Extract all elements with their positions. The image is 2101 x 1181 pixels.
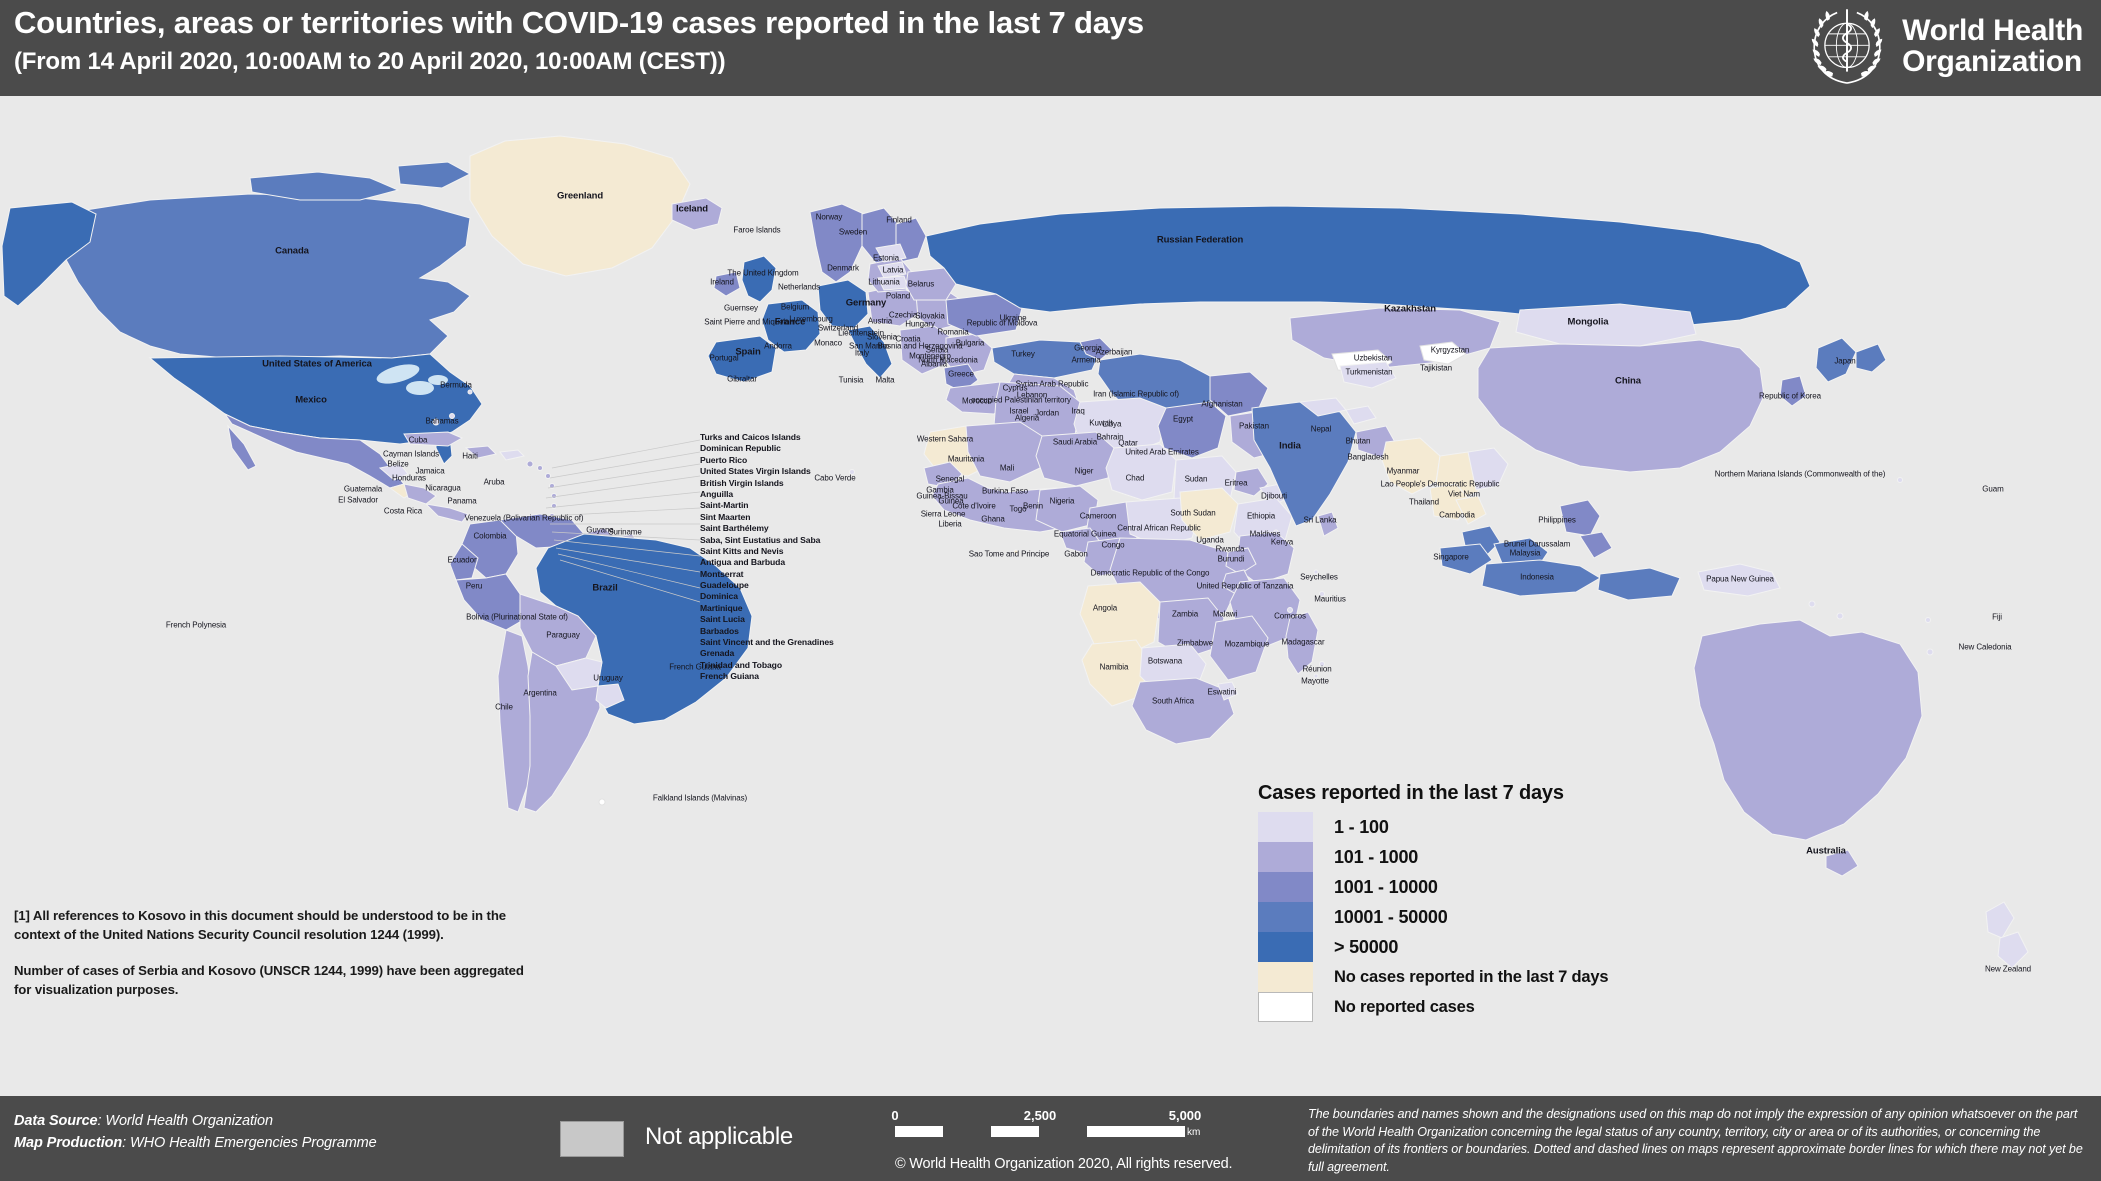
map-production-value: WHO Health Emergencies Programme (130, 1135, 377, 1151)
map-country-label: Romania (937, 328, 968, 337)
map-country-label: Democratic Republic of the Congo (1091, 569, 1210, 578)
who-logo: World Health Organization (1806, 6, 2083, 88)
map-country-label: Eswatini (1208, 688, 1237, 697)
map-country-label: Ireland (710, 278, 734, 287)
data-source-line: Data Source: World Health Organization (14, 1110, 377, 1132)
map-country-label: Paraguay (546, 631, 579, 640)
map-country-label: Nigeria (1050, 497, 1075, 506)
caribbean-callout-item: Montserrat (700, 569, 834, 580)
map-country-label: Myanmar (1387, 467, 1420, 476)
map-country-label: Russian Federation (1157, 235, 1243, 246)
caribbean-callout-item: Antigua and Barbuda (700, 557, 834, 568)
map-country-label: Falkland Islands (Malvinas) (653, 794, 747, 803)
map-country-label: New Zealand (1985, 965, 2031, 974)
map-country-label: Faroe Islands (733, 226, 780, 235)
map-country-label: Saudi Arabia (1053, 438, 1097, 447)
map-country-label: Gabon (1064, 550, 1088, 559)
map-country-label: The United Kingdom (727, 269, 798, 278)
map-country-label: Malawi (1213, 610, 1237, 619)
map-country-label: Northern Mariana Islands (Commonwealth o… (1715, 470, 1886, 479)
map-country-label: Côte d'Ivoire (952, 502, 995, 511)
who-covid-map-page: Countries, areas or territories with COV… (0, 0, 2101, 1181)
who-emblem-icon (1806, 6, 1888, 88)
legend-rows: 1 - 100101 - 10001001 - 1000010001 - 500… (1258, 812, 1858, 1022)
map-country-label: Zimbabwe (1177, 639, 1213, 648)
map-country-label: Portugal (710, 354, 739, 363)
map-country-label: Libya (1103, 420, 1122, 429)
map-country-label: India (1279, 441, 1301, 452)
map-country-label: Indonesia (1520, 573, 1554, 582)
caribbean-callout-list: Turks and Caicos IslandsDominican Republ… (700, 432, 834, 683)
legend-row[interactable]: 1001 - 10000 (1258, 872, 1858, 902)
map-country-label: Sudan (1185, 475, 1208, 484)
map-country-label: Panama (447, 497, 476, 506)
scale-tick: 2,500 (1024, 1108, 1057, 1123)
caribbean-callout-item: Puerto Rico (700, 455, 834, 466)
map-country-label: Ecuador (447, 556, 476, 565)
page-title: Countries, areas or territories with COV… (14, 5, 1144, 41)
map-country-label: Seychelles (1300, 573, 1338, 582)
map-country-label: Venezuela (Bolivarian Republic of) (465, 514, 584, 523)
caribbean-callout-item: Saint-Martin (700, 500, 834, 511)
map-production-key: Map Production (14, 1135, 122, 1151)
map-country-label: Canada (275, 246, 309, 257)
map-country-label: El Salvador (338, 496, 378, 505)
map-country-label: Argentina (523, 689, 556, 698)
map-country-label: Austria (868, 317, 892, 326)
caribbean-callout-item: Saint Lucia (700, 614, 834, 625)
map-country-label: Nepal (1311, 425, 1331, 434)
map-country-label: Chad (1126, 474, 1145, 483)
legend-row[interactable]: 101 - 1000 (1258, 842, 1858, 872)
map-country-label: Eritrea (1225, 479, 1248, 488)
caribbean-callout-item: Dominica (700, 591, 834, 602)
legend-color-swatch (1258, 872, 1313, 902)
data-source-key: Data Source (14, 1113, 98, 1129)
map-country-label: Singapore (1433, 553, 1469, 562)
map-country-label: Turkmenistan (1346, 368, 1393, 377)
map-country-label: Nicaragua (425, 484, 461, 493)
footer-credits: Data Source: World Health Organization M… (14, 1110, 377, 1154)
map-country-label: Réunion (1302, 665, 1331, 674)
legend-label: No cases reported in the last 7 days (1334, 968, 1608, 987)
map-country-label: Greenland (557, 191, 603, 202)
map-country-label: Philippines (1538, 516, 1576, 525)
map-country-label: Syrian Arab Republic (1016, 380, 1089, 389)
caribbean-callout-item: Martinique (700, 603, 834, 614)
caribbean-callout-item: Grenada (700, 648, 834, 659)
map-country-label: Zambia (1172, 610, 1198, 619)
caribbean-callout-item: British Virgin Islands (700, 478, 834, 489)
legend-label: 101 - 1000 (1334, 847, 1418, 868)
map-country-label: New Caledonia (1959, 643, 2012, 652)
data-source-value: World Health Organization (105, 1113, 273, 1129)
map-country-label: Djibouti (1261, 492, 1287, 501)
map-country-label: Bhutan (1346, 437, 1371, 446)
map-country-label: Kenya (1271, 538, 1293, 547)
map-country-label: Malaysia (1510, 549, 1541, 558)
map-country-label: Brazil (592, 583, 617, 594)
map-country-label: Japan (1834, 357, 1855, 366)
map-country-label: Western Sahara (917, 435, 973, 444)
caribbean-callout-item: Dominican Republic (700, 443, 834, 454)
map-country-label: Poland (886, 292, 910, 301)
world-map[interactable]: .c1{fill:#dedcef;stroke:#f2f2f2;stroke-w… (0, 96, 2101, 1096)
map-country-label: Afghanistan (1201, 400, 1242, 409)
map-country-label: Madagascar (1281, 638, 1324, 647)
map-country-label: Hungary (905, 320, 935, 329)
caribbean-callout-item: Saba, Sint Eustatius and Saba (700, 535, 834, 546)
who-wordmark: World Health Organization (1902, 16, 2083, 77)
map-country-label: Turkey (1011, 350, 1035, 359)
caribbean-callout-item: Turks and Caicos Islands (700, 432, 834, 443)
map-country-label: Republic of Korea (1759, 392, 1821, 401)
map-country-label: Malta (875, 376, 894, 385)
map-legend: Cases reported in the last 7 days 1 - 10… (1258, 782, 1858, 1022)
caribbean-callout-item: Sint Maarten (700, 512, 834, 523)
map-country-label: Costa Rica (384, 507, 422, 516)
legend-title: Cases reported in the last 7 days (1258, 782, 1858, 805)
map-country-label: Peru (466, 582, 483, 591)
map-country-label: Togo (1010, 505, 1027, 514)
map-country-label: Burkina Faso (982, 487, 1028, 496)
map-country-label: Sweden (839, 228, 867, 237)
map-country-label: Brunei Darussalam (1504, 540, 1570, 549)
map-country-label: Cambodia (1439, 511, 1475, 520)
map-country-label: Iran (Islamic Republic of) (1093, 390, 1179, 399)
map-country-label: Latvia (883, 266, 904, 275)
who-name-line2: Organization (1902, 47, 2083, 78)
map-country-label: Haiti (462, 452, 478, 461)
map-country-label: Cayman Islands (383, 450, 439, 459)
map-country-label: Italy (855, 349, 869, 358)
copyright-notice: © World Health Organization 2020, All ri… (895, 1156, 1225, 1172)
map-notes: [1] All references to Kosovo in this doc… (14, 906, 534, 1016)
map-country-label: Comoros (1274, 612, 1306, 621)
map-country-label: Pakistan (1239, 422, 1269, 431)
scale-tick: 0 (891, 1108, 898, 1123)
map-country-label: Estonia (873, 254, 899, 263)
scale-unit-label: km (1187, 1127, 1200, 1138)
map-production-line: Map Production: WHO Health Emergencies P… (14, 1132, 377, 1154)
map-country-label: Niger (1075, 467, 1094, 476)
map-country-label: Sao Tome and Principe (969, 550, 1049, 559)
map-country-label: Mauritius (1314, 595, 1346, 604)
map-country-label: Azerbaijan (1096, 348, 1133, 357)
map-country-label: Denmark (827, 264, 859, 273)
map-country-label: Fiji (1992, 613, 2002, 622)
map-country-label: Uganda (1196, 536, 1223, 545)
map-country-label: Algeria (1015, 414, 1039, 423)
legend-label: > 50000 (1334, 937, 1398, 958)
legend-row[interactable]: No reported cases (1258, 992, 1858, 1022)
map-country-label: Suriname (608, 528, 641, 537)
map-country-label: Saint Pierre and Miquelon (704, 318, 794, 327)
map-country-label: Gibraltar (727, 375, 757, 384)
map-country-label: China (1615, 376, 1641, 387)
caribbean-callout-item: Guadeloupe (700, 580, 834, 591)
map-country-label: Papua New Guinea (1706, 575, 1774, 584)
map-country-label: Cameroon (1080, 512, 1117, 521)
legend-color-swatch (1258, 842, 1313, 872)
not-applicable-swatch (560, 1121, 624, 1157)
page-subtitle: (From 14 April 2020, 10:00AM to 20 April… (14, 48, 725, 76)
map-country-label: Kyrgyzstan (1431, 346, 1470, 355)
map-country-label: United Arab Emirates (1125, 448, 1199, 457)
map-country-label: Guatemala (344, 485, 382, 494)
scale-bar-graphic (895, 1126, 1185, 1137)
map-country-label: Bangladesh (1347, 453, 1388, 462)
legend-row[interactable]: No cases reported in the last 7 days (1258, 962, 1858, 992)
map-country-label: Mozambique (1225, 640, 1270, 649)
legend-row[interactable]: 10001 - 50000 (1258, 902, 1858, 932)
map-country-label: Mexico (295, 395, 327, 406)
map-country-label: Guernsey (724, 304, 758, 313)
map-country-label: Uzbekistan (1354, 354, 1393, 363)
map-country-label: Bosnia and Herzegovina (878, 342, 963, 351)
map-country-label: Kazakhstan (1384, 304, 1436, 315)
map-country-label: Finland (886, 216, 912, 225)
legend-color-swatch (1258, 902, 1313, 932)
map-country-label: Slovenia (867, 333, 897, 342)
map-country-label: Morocco (962, 397, 992, 406)
map-country-label: Egypt (1173, 415, 1193, 424)
map-country-label: Chile (495, 703, 513, 712)
map-country-label: Belize (387, 460, 408, 469)
caribbean-callout-item: Barbados (700, 626, 834, 637)
map-country-label: Bulgaria (956, 339, 985, 348)
map-country-label: Andorra (764, 342, 792, 351)
map-country-label: Tajikistan (1420, 364, 1452, 373)
map-country-label: Burundi (1218, 555, 1245, 564)
who-name-line1: World Health (1902, 16, 2083, 47)
map-country-label: Qatar (1118, 439, 1138, 448)
boundaries-disclaimer: The boundaries and names shown and the d… (1308, 1106, 2088, 1176)
map-country-label: Lao People's Democratic Republic (1381, 480, 1500, 489)
map-country-label: Guam (1982, 485, 2003, 494)
map-country-label: Mali (1000, 464, 1014, 473)
map-country-label: Republic of Moldova (967, 319, 1038, 328)
note-kosovo: [1] All references to Kosovo in this doc… (14, 906, 534, 944)
map-country-label: Bolivia (Plurinational State of) (466, 613, 568, 622)
caribbean-callout-item: Saint Vincent and the Grenadines (700, 637, 834, 648)
map-country-label: Monaco (814, 339, 842, 348)
map-country-label: Spain (735, 347, 760, 358)
legend-label: No reported cases (1334, 998, 1475, 1017)
map-country-label: South Sudan (1170, 509, 1215, 518)
map-country-label: Lithuania (868, 278, 900, 287)
map-country-label: Aruba (484, 478, 505, 487)
map-country-label: South Africa (1152, 697, 1194, 706)
legend-row[interactable]: > 50000 (1258, 932, 1858, 962)
legend-color-swatch (1258, 962, 1313, 992)
map-country-label: Bermuda (440, 381, 472, 390)
map-country-label: Bahamas (425, 417, 458, 426)
legend-color-swatch (1258, 812, 1313, 842)
map-country-label: Mayotte (1301, 677, 1329, 686)
map-country-label: Netherlands (778, 283, 820, 292)
map-country-label: Namibia (1100, 663, 1129, 672)
map-country-label: Germany (846, 298, 887, 309)
map-country-label: Cuba (409, 436, 428, 445)
map-country-label: Belgium (781, 303, 809, 312)
map-country-label: Rwanda (1216, 545, 1245, 554)
legend-label: 1001 - 10000 (1334, 877, 1438, 898)
map-country-label: Uruguay (593, 674, 623, 683)
map-country-label: United Republic of Tanzania (1197, 582, 1294, 591)
map-country-label: Mauritania (948, 455, 984, 464)
scale-tick: 5,000 (1169, 1108, 1202, 1123)
page-header: Countries, areas or territories with COV… (0, 0, 2101, 96)
map-country-label: Armenia (1071, 356, 1100, 365)
map-country-label: United States of America (262, 359, 372, 370)
map-country-label: Liberia (938, 520, 961, 529)
map-country-label: French Polynesia (166, 621, 226, 630)
map-country-label: Sierra Leone (921, 510, 966, 519)
scale-tick-labels: 02,5005,000 (895, 1108, 1205, 1126)
map-country-label: Honduras (392, 474, 426, 483)
caribbean-callout-item: United States Virgin Islands (700, 466, 834, 477)
legend-color-swatch (1258, 992, 1313, 1022)
map-country-label: Central African Republic (1117, 524, 1200, 533)
map-country-label: Senegal (936, 475, 965, 484)
map-country-label: Ghana (981, 515, 1005, 524)
map-country-label: North Macedonia (918, 356, 977, 365)
map-country-label: Belarus (908, 280, 934, 289)
caribbean-callout-item: French Guiana (700, 671, 834, 682)
map-country-label: Thailand (1409, 498, 1439, 507)
caribbean-callout-item: Anguilla (700, 489, 834, 500)
map-scale-bar: 02,5005,000 km © World Health Organizati… (895, 1108, 1205, 1137)
map-country-label: Ethiopia (1247, 512, 1275, 521)
caribbean-callout-item: Saint Barthélemy (700, 523, 834, 534)
map-country-label: Angola (1093, 604, 1117, 613)
map-country-label: Czechia (889, 311, 917, 320)
map-country-label: Sri Lanka (1304, 516, 1337, 525)
map-country-label: Congo (1101, 541, 1124, 550)
legend-color-swatch (1258, 932, 1313, 962)
map-country-label: Iraq (1071, 407, 1084, 416)
caribbean-callout-item: Saint Kitts and Nevis (700, 546, 834, 557)
map-country-label: Botswana (1148, 657, 1182, 666)
legend-label: 1 - 100 (1334, 817, 1389, 838)
map-country-label: Iceland (676, 204, 708, 215)
map-country-label: Mongolia (1568, 317, 1609, 328)
caribbean-callout-item: Trinidad and Tobago (700, 660, 834, 671)
map-country-label: Viet Nam (1448, 490, 1480, 499)
page-footer: Data Source: World Health Organization M… (0, 1096, 2101, 1181)
map-country-label: Greece (948, 370, 974, 379)
legend-label: 10001 - 50000 (1334, 907, 1448, 928)
note-serbia: Number of cases of Serbia and Kosovo (UN… (14, 961, 534, 999)
map-country-label: Colombia (474, 532, 507, 541)
map-country-label: Tunisia (839, 376, 864, 385)
map-country-label: Equatorial Guinea (1054, 530, 1116, 539)
legend-row[interactable]: 1 - 100 (1258, 812, 1858, 842)
not-applicable-label: Not applicable (645, 1123, 793, 1151)
map-country-label: Norway (816, 213, 843, 222)
